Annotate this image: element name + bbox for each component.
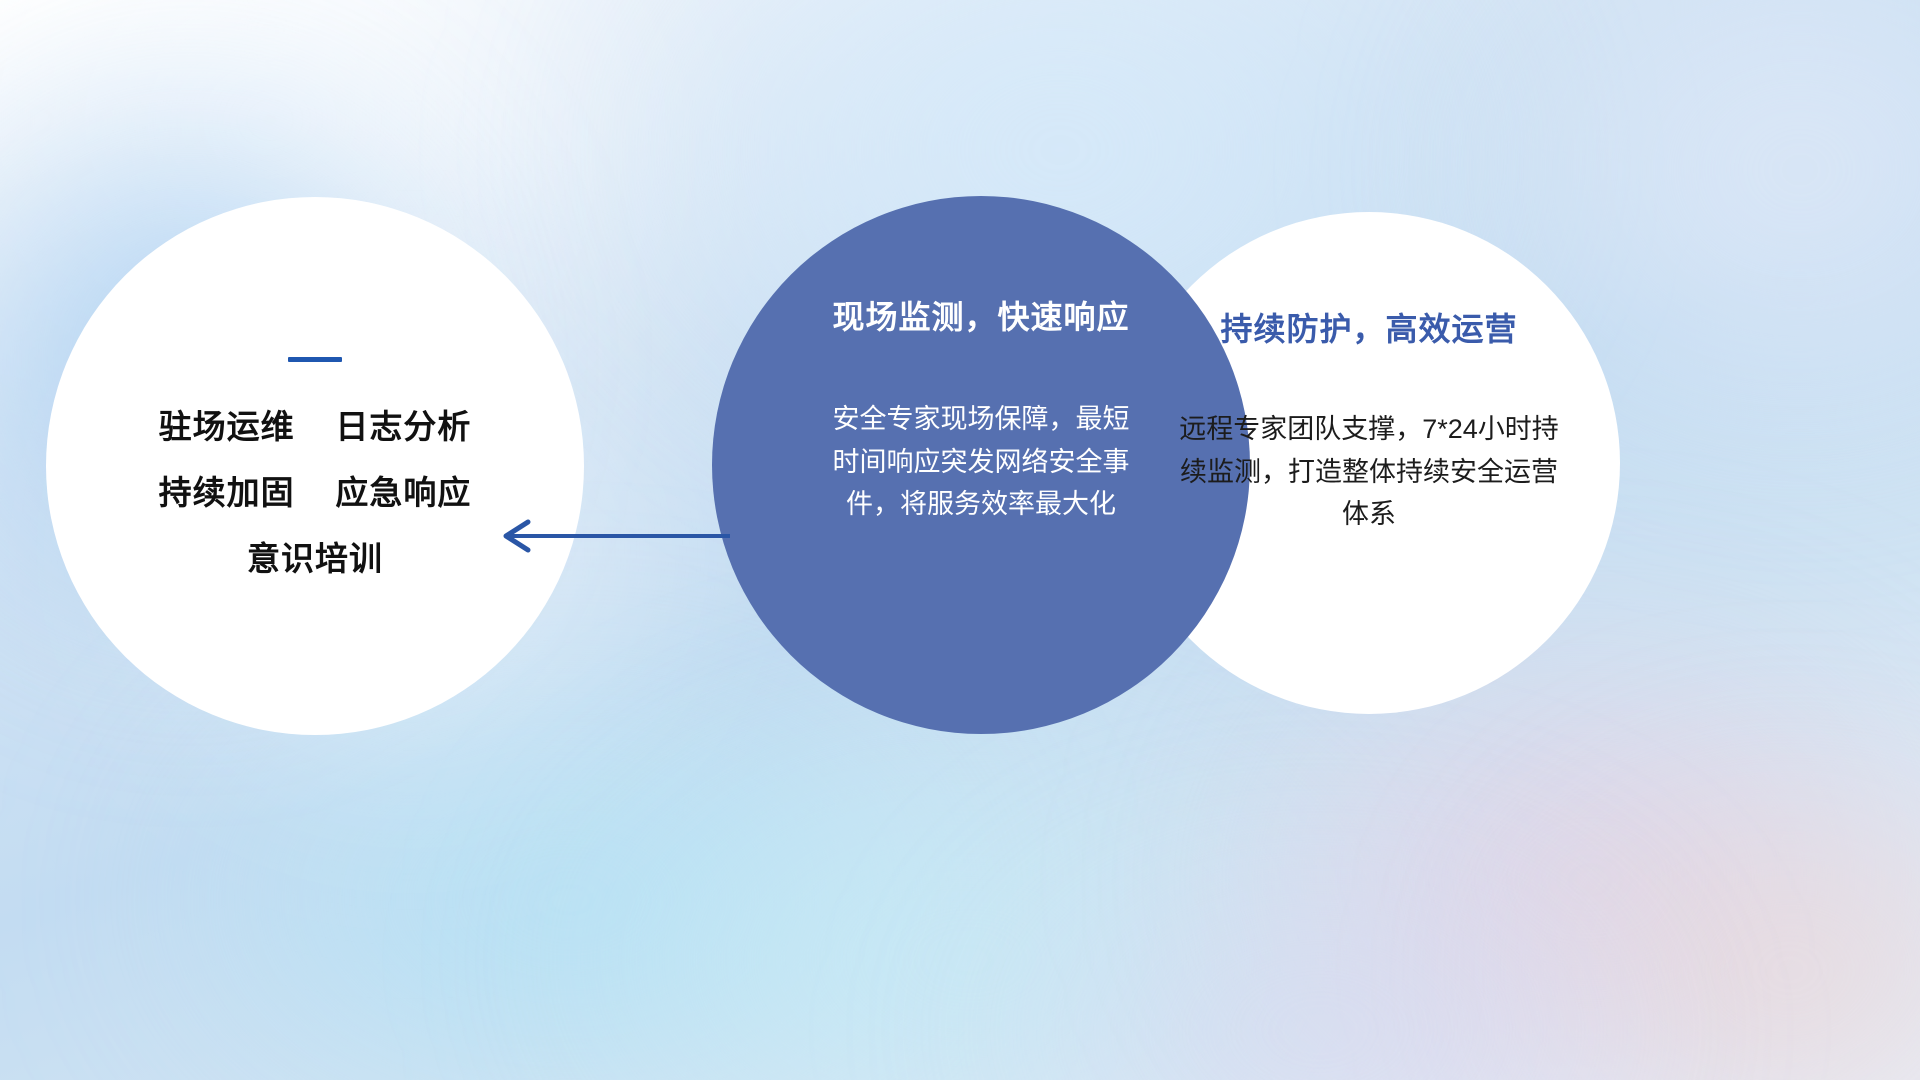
accent-divider-icon bbox=[288, 357, 342, 362]
center-circle-title: 现场监测，快速响应 bbox=[832, 292, 1129, 338]
right-circle-inner: 持续防护，高效运营 远程专家团队支撑，7*24小时持续监测，打造整体持续安全运营… bbox=[1118, 212, 1620, 714]
capability-circle-left[interactable]: 驻场运维 日志分析 持续加固 应急响应 意识培训 bbox=[46, 197, 584, 735]
right-circle-body: 远程专家团队支撑，7*24小时持续监测，打造整体持续安全运营体系 bbox=[1179, 408, 1559, 536]
capability-line-3: 意识培训 bbox=[247, 542, 383, 575]
center-circle-body: 安全专家现场保障，最短时间响应突发网络安全事件，将服务效率最大化 bbox=[826, 398, 1136, 526]
slide-canvas: 驻场运维 日志分析 持续加固 应急响应 意识培训 现场监测，快速响应 安全专家现… bbox=[0, 0, 1920, 1080]
capability-circle-right-content: 持续防护，高效运营 远程专家团队支撑，7*24小时持续监测，打造整体持续安全运营… bbox=[1118, 212, 1620, 714]
capability-line-2: 持续加固 应急响应 bbox=[159, 476, 472, 509]
bg-glow-bottom-center bbox=[520, 700, 1420, 1080]
right-circle-title: 持续防护，高效运营 bbox=[1220, 304, 1517, 350]
capability-circle-left-content: 驻场运维 日志分析 持续加固 应急响应 意识培训 bbox=[46, 197, 584, 735]
capability-line-1: 驻场运维 日志分析 bbox=[159, 410, 472, 443]
bg-glow-far-right-warm bbox=[1480, 760, 1920, 1080]
flow-arrow-left-icon bbox=[492, 508, 732, 564]
bg-glow-bottom-right bbox=[940, 820, 1700, 1080]
